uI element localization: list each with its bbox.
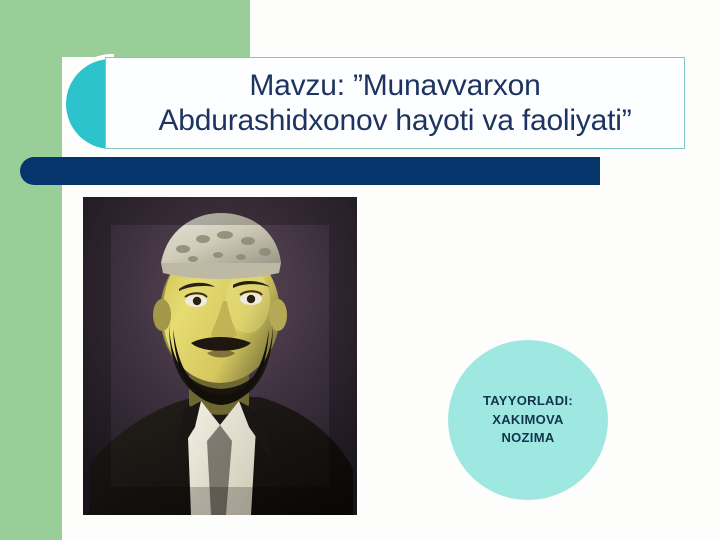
title-box: Mavzu: ”Munavvarxon Abdurashidxonov hayo…: [105, 57, 685, 149]
portrait-image: [83, 197, 357, 515]
author-credit-text: TAYYORLADI: XAKIMOVA NOZIMA: [483, 392, 573, 449]
navy-accent-bar: [20, 157, 600, 185]
green-decorative-side-strip: [0, 0, 62, 540]
slide-title: Mavzu: ”Munavvarxon Abdurashidxonov hayo…: [150, 68, 639, 139]
portrait-illustration: [83, 197, 357, 515]
author-credit-circle: TAYYORLADI: XAKIMOVA NOZIMA: [448, 340, 608, 500]
title-band: Mavzu: ”Munavvarxon Abdurashidxonov hayo…: [62, 57, 686, 151]
presentation-slide: Mavzu: ”Munavvarxon Abdurashidxonov hayo…: [0, 0, 720, 540]
